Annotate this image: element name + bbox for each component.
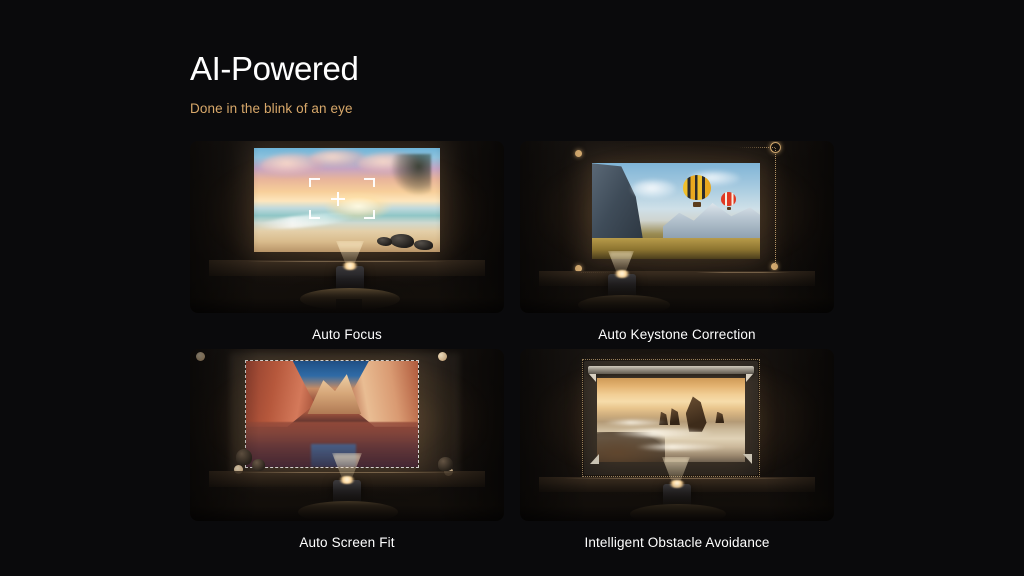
feature-card-grid: Auto Focus — [190, 141, 834, 521]
shelf-object-right — [438, 457, 453, 471]
card-label-auto-keystone-correction: Auto Keystone Correction — [520, 327, 834, 342]
fit-corner-top-right[interactable] — [438, 352, 447, 361]
projected-image-beach — [254, 148, 440, 252]
feature-card-intelligent-obstacle-avoidance[interactable] — [520, 349, 834, 521]
projector-lens-icon — [342, 262, 358, 270]
floor-shadow — [190, 483, 504, 521]
surf-foam — [612, 429, 716, 437]
focus-bracket-top-left-icon — [309, 178, 320, 187]
screen-roller-casing — [588, 366, 754, 374]
sea-stack-large — [686, 396, 707, 431]
floor-shadow — [520, 483, 834, 521]
scene-auto-keystone — [520, 141, 834, 313]
fit-corner-top-left[interactable] — [196, 352, 205, 361]
rocky-seascape-artwork — [597, 378, 745, 462]
scene-auto-screen-fit — [190, 349, 504, 521]
mountain-balloons-artwork — [592, 163, 760, 259]
floor-shadow — [190, 275, 504, 313]
focus-crosshair-icon — [331, 192, 345, 206]
surf-foam — [635, 444, 727, 451]
surf-foam — [603, 420, 671, 425]
feature-cell-intelligent-obstacle-avoidance[interactable]: Intelligent Obstacle Avoidance — [520, 349, 834, 521]
casing-bracket-left-icon — [589, 374, 596, 382]
casing-bracket-right-icon — [746, 374, 753, 382]
keystone-handle-top-left[interactable] — [575, 150, 582, 157]
screen-corner-left-icon — [590, 454, 599, 464]
floor-shadow — [520, 275, 834, 313]
feature-card-auto-screen-fit[interactable] — [190, 349, 504, 521]
card-label-auto-focus: Auto Focus — [190, 327, 504, 342]
cloud-icon — [632, 180, 676, 197]
sea-stack-small — [670, 408, 680, 425]
keystone-handle-bottom-right[interactable] — [771, 263, 778, 270]
header: AI-Powered Done in the blink of an eye — [190, 50, 358, 116]
page-subtitle: Done in the blink of an eye — [190, 101, 358, 116]
feature-cell-auto-keystone-correction[interactable]: Auto Keystone Correction — [520, 141, 834, 313]
feature-cell-auto-focus[interactable]: Auto Focus — [190, 141, 504, 313]
hot-air-balloon-yellow-icon — [683, 175, 712, 208]
mountain-cliff — [592, 163, 649, 247]
feature-card-auto-keystone-correction[interactable] — [520, 141, 834, 313]
keystone-handle-top-right[interactable] — [770, 142, 781, 153]
sea-stack-small — [715, 412, 724, 424]
feature-cell-auto-screen-fit[interactable]: Auto Screen Fit — [190, 349, 504, 521]
feature-card-auto-focus[interactable] — [190, 141, 504, 313]
focus-reticle-overlay — [254, 148, 440, 252]
card-label-auto-screen-fit: Auto Screen Fit — [190, 535, 504, 550]
scene-auto-focus — [190, 141, 504, 313]
card-label-intelligent-obstacle-avoidance: Intelligent Obstacle Avoidance — [520, 535, 834, 550]
console-highlight — [696, 272, 790, 273]
projected-image-mountains — [592, 163, 760, 259]
shelf-object-left — [236, 449, 252, 465]
shelf-object-left-2 — [252, 459, 265, 471]
scene-obstacle-avoidance — [520, 349, 834, 521]
focus-bracket-bottom-left-icon — [309, 210, 320, 219]
screen-fit-boundary[interactable] — [245, 360, 419, 468]
focus-bracket-top-right-icon — [364, 178, 375, 187]
projected-image-seascape — [597, 378, 745, 462]
page-title: AI-Powered — [190, 50, 358, 88]
ai-powered-feature-panel: AI-Powered Done in the blink of an eye — [0, 0, 1024, 576]
screen-corner-right-icon — [743, 454, 752, 464]
focus-bracket-bottom-right-icon — [364, 210, 375, 219]
hot-air-balloon-red-icon — [721, 192, 736, 210]
